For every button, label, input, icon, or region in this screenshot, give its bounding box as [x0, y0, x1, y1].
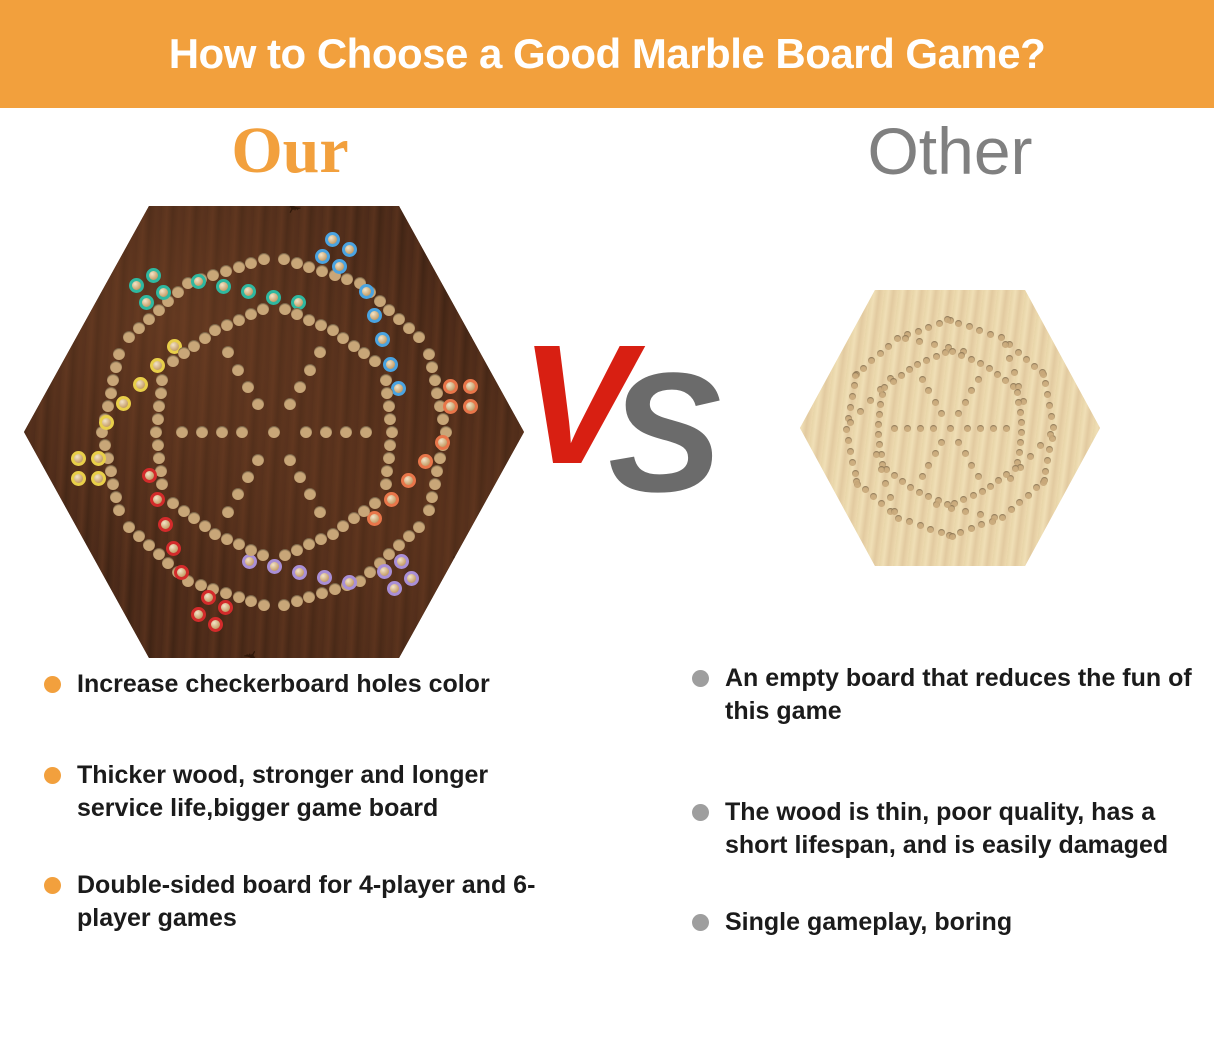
- board-hole-marble: [201, 590, 216, 605]
- board-hole: [209, 324, 221, 336]
- board-hole: [278, 599, 290, 611]
- board-hole: [380, 374, 392, 386]
- board-hole: [894, 335, 901, 342]
- board-hole: [1031, 363, 1038, 370]
- board-hole: [102, 400, 114, 412]
- board-hole: [860, 365, 867, 372]
- page-title: How to Choose a Good Marble Board Game?: [0, 0, 1214, 108]
- board-hole: [303, 314, 315, 326]
- board-hole: [987, 483, 994, 490]
- board-hole: [315, 533, 327, 545]
- board-hole: [914, 361, 921, 368]
- board-hole: [962, 508, 969, 515]
- board-hole: [1017, 439, 1024, 446]
- board-hole: [413, 331, 425, 343]
- board-hole: [1046, 402, 1053, 409]
- board-hole: [994, 371, 1001, 378]
- board-hole-marble: [129, 278, 144, 293]
- board-hole: [1015, 399, 1022, 406]
- bullet-dot-icon: [692, 914, 709, 931]
- board-hole-marble: [266, 290, 281, 305]
- board-hole: [156, 478, 168, 490]
- board-hole: [1046, 446, 1053, 453]
- board-hole: [242, 471, 254, 483]
- board-hole: [199, 332, 211, 344]
- board-hole: [233, 261, 245, 273]
- board-hole: [938, 439, 945, 446]
- board-hole: [221, 319, 233, 331]
- board-hole: [381, 387, 393, 399]
- board-hole: [384, 413, 396, 425]
- versus-graphic: V S: [520, 320, 740, 500]
- other-column-heading: Other: [820, 118, 1080, 184]
- board-hole: [878, 466, 885, 473]
- board-hole: [291, 595, 303, 607]
- board-hole: [1025, 492, 1032, 499]
- board-hole-marble: [116, 396, 131, 411]
- board-hole: [258, 599, 270, 611]
- our-feature-text: Thicker wood, stronger and longer servic…: [77, 759, 564, 825]
- other-feature-text: Single gameplay, boring: [725, 906, 1012, 939]
- board-hole: [258, 253, 270, 265]
- board-hole-marble: [216, 279, 231, 294]
- board-hole: [303, 261, 315, 273]
- board-hole: [876, 411, 883, 418]
- board-hole-marble: [174, 565, 189, 580]
- board-hole: [852, 372, 859, 379]
- board-hole-marble: [292, 565, 307, 580]
- board-hole: [403, 530, 415, 542]
- board-hole: [188, 340, 200, 352]
- board-hole: [360, 426, 372, 438]
- board-hole: [845, 437, 852, 444]
- board-hole-marble: [377, 564, 392, 579]
- board-hole-marble: [463, 379, 478, 394]
- board-hole: [1042, 380, 1049, 387]
- board-hole-marble: [191, 274, 206, 289]
- airplane-icon: ✈: [446, 550, 472, 575]
- board-hole: [887, 494, 894, 501]
- board-hole: [1044, 391, 1051, 398]
- board-hole: [172, 286, 184, 298]
- board-hole: [898, 372, 905, 379]
- our-feature-text: Increase checkerboard holes color: [77, 668, 490, 701]
- board-hole: [862, 486, 869, 493]
- board-hole: [876, 441, 883, 448]
- board-hole-marble: [133, 377, 148, 392]
- board-hole: [153, 548, 165, 560]
- board-hole-marble: [367, 308, 382, 323]
- board-hole: [133, 322, 145, 334]
- board-hole: [1016, 499, 1023, 506]
- board-hole: [426, 491, 438, 503]
- board-hole: [962, 450, 969, 457]
- board-hole: [153, 304, 165, 316]
- board-hole: [955, 439, 962, 446]
- board-hole: [314, 506, 326, 518]
- board-hole: [268, 426, 280, 438]
- board-hole: [110, 361, 122, 373]
- our-feature-list: Increase checkerboard holes color Thicke…: [44, 668, 564, 979]
- list-item: Single gameplay, boring: [692, 906, 1212, 939]
- board-hole: [278, 253, 290, 265]
- board-hole: [284, 398, 296, 410]
- other-board-hexagon: [800, 290, 1100, 566]
- board-hole: [143, 313, 155, 325]
- board-hole: [176, 426, 188, 438]
- board-hole: [1002, 377, 1009, 384]
- board-hole: [245, 595, 257, 607]
- board-hole: [110, 491, 122, 503]
- board-hole: [904, 425, 911, 432]
- board-hole-marble: [332, 259, 347, 274]
- board-hole: [386, 426, 398, 438]
- board-hole: [919, 376, 926, 383]
- board-hole: [167, 497, 179, 509]
- board-hole: [222, 346, 234, 358]
- board-hole: [919, 473, 926, 480]
- board-hole: [188, 512, 200, 524]
- board-hole: [933, 353, 940, 360]
- board-hole: [1039, 369, 1046, 376]
- board-hole-marble: [463, 399, 478, 414]
- board-hole: [152, 413, 164, 425]
- board-hole-marble: [443, 399, 458, 414]
- board-hole: [156, 374, 168, 386]
- board-hole: [977, 425, 984, 432]
- board-hole: [348, 512, 360, 524]
- board-hole: [877, 350, 884, 357]
- board-hole: [925, 462, 932, 469]
- board-hole: [944, 501, 951, 508]
- board-hole: [340, 426, 352, 438]
- board-hole: [936, 320, 943, 327]
- board-hole: [979, 488, 986, 495]
- board-hole: [155, 387, 167, 399]
- other-feature-text: An empty board that reduces the fun of t…: [725, 662, 1212, 728]
- board-hole: [222, 506, 234, 518]
- bullet-dot-icon: [692, 804, 709, 821]
- board-hole: [393, 539, 405, 551]
- board-hole-marble: [342, 575, 357, 590]
- board-hole: [875, 431, 882, 438]
- board-hole: [291, 257, 303, 269]
- board-hole: [1042, 468, 1049, 475]
- board-hole: [284, 454, 296, 466]
- board-hole: [257, 549, 269, 561]
- board-hole-marble: [315, 249, 330, 264]
- board-hole: [915, 328, 922, 335]
- board-hole-marble: [218, 600, 233, 615]
- airplane-icon: ✈: [58, 518, 75, 538]
- board-hole: [947, 425, 954, 432]
- our-board-hexagon: ✈✈✈✈✈✈: [24, 206, 524, 658]
- board-hole: [932, 450, 939, 457]
- board-hole: [1047, 431, 1054, 438]
- our-feature-text: Double-sided board for 4-player and 6-pl…: [77, 869, 564, 935]
- board-hole: [178, 347, 190, 359]
- board-hole: [923, 357, 930, 364]
- other-feature-list: An empty board that reduces the fun of t…: [692, 662, 1212, 983]
- board-hole: [849, 459, 856, 466]
- board-hole-marble: [401, 473, 416, 488]
- board-hole: [291, 308, 303, 320]
- board-hole: [257, 303, 269, 315]
- board-hole: [167, 355, 179, 367]
- board-hole: [899, 478, 906, 485]
- board-hole-marble: [242, 554, 257, 569]
- board-hole: [434, 452, 446, 464]
- board-hole: [1014, 389, 1021, 396]
- board-hole: [917, 425, 924, 432]
- board-hole: [199, 520, 211, 532]
- board-hole: [938, 529, 945, 536]
- board-hole: [881, 384, 888, 391]
- board-hole: [279, 549, 291, 561]
- board-hole: [304, 488, 316, 500]
- board-hole: [847, 448, 854, 455]
- board-hole: [977, 511, 984, 518]
- board-hole: [242, 381, 254, 393]
- board-hole: [882, 480, 889, 487]
- board-hole: [978, 521, 985, 528]
- other-feature-text: The wood is thin, poor quality, has a sh…: [725, 796, 1212, 862]
- board-hole-marble: [91, 471, 106, 486]
- board-hole: [431, 465, 443, 477]
- board-hole: [232, 488, 244, 500]
- board-hole-marble: [384, 492, 399, 507]
- board-hole-marble: [156, 285, 171, 300]
- board-hole: [143, 539, 155, 551]
- our-board-image: ✈✈✈✈✈✈: [24, 206, 524, 658]
- board-hole: [868, 357, 875, 364]
- board-hole: [975, 473, 982, 480]
- board-hole-marble: [383, 357, 398, 372]
- bullet-dot-icon: [44, 877, 61, 894]
- bullet-dot-icon: [44, 767, 61, 784]
- airplane-icon: ✈: [470, 326, 487, 346]
- board-hole-marble: [241, 284, 256, 299]
- board-hole: [931, 341, 938, 348]
- board-hole: [294, 471, 306, 483]
- other-board-image: [800, 290, 1100, 566]
- board-hole: [847, 419, 854, 426]
- board-hole: [1023, 356, 1030, 363]
- board-hole: [968, 387, 975, 394]
- board-hole-marble: [404, 571, 419, 586]
- board-hole-marble: [99, 415, 114, 430]
- board-hole: [133, 530, 145, 542]
- board-hole: [877, 401, 884, 408]
- board-hole: [423, 348, 435, 360]
- board-hole: [1018, 429, 1025, 436]
- list-item: The wood is thin, poor quality, has a sh…: [692, 796, 1212, 862]
- board-hole: [437, 413, 449, 425]
- board-hole: [895, 515, 902, 522]
- board-hole: [977, 360, 984, 367]
- board-hole: [962, 399, 969, 406]
- board-hole: [1018, 419, 1025, 426]
- board-hole-marble: [435, 435, 450, 450]
- board-hole: [245, 544, 257, 556]
- airplane-icon: ✈: [279, 193, 305, 218]
- board-hole: [925, 387, 932, 394]
- board-hole: [221, 533, 233, 545]
- board-hole: [1041, 477, 1048, 484]
- board-hole: [1033, 484, 1040, 491]
- board-hole: [291, 544, 303, 556]
- list-item: An empty board that reduces the fun of t…: [692, 662, 1212, 728]
- board-hole-marble: [158, 517, 173, 532]
- board-hole: [949, 348, 956, 355]
- board-hole: [195, 579, 207, 591]
- board-hole: [358, 505, 370, 517]
- board-hole-marble: [342, 242, 357, 257]
- board-hole: [885, 343, 892, 350]
- board-hole: [196, 426, 208, 438]
- board-hole: [245, 308, 257, 320]
- board-hole: [383, 400, 395, 412]
- board-hole: [429, 374, 441, 386]
- board-hole: [233, 591, 245, 603]
- board-hole: [207, 269, 219, 281]
- board-hole: [113, 504, 125, 516]
- board-hole: [369, 497, 381, 509]
- board-hole: [123, 331, 135, 343]
- board-hole: [413, 521, 425, 533]
- board-hole: [320, 426, 332, 438]
- board-hole-marble: [391, 381, 406, 396]
- board-hole-marble: [166, 541, 181, 556]
- board-hole: [381, 465, 393, 477]
- board-hole-marble: [71, 451, 86, 466]
- board-hole: [279, 303, 291, 315]
- board-hole: [975, 376, 982, 383]
- board-hole-marble: [387, 581, 402, 596]
- board-hole: [999, 514, 1006, 521]
- board-hole: [849, 393, 856, 400]
- board-hole: [178, 505, 190, 517]
- board-hole: [1017, 409, 1024, 416]
- board-hole: [245, 257, 257, 269]
- board-hole: [932, 399, 939, 406]
- board-hole: [303, 538, 315, 550]
- airplane-icon: ✈: [73, 289, 99, 314]
- board-hole-marble: [150, 492, 165, 507]
- board-hole: [906, 518, 913, 525]
- board-hole-marble: [375, 332, 390, 347]
- board-hole-marble: [418, 454, 433, 469]
- board-hole: [209, 528, 221, 540]
- board-hole: [99, 439, 111, 451]
- board-hole: [955, 320, 962, 327]
- board-hole: [316, 265, 328, 277]
- board-hole: [957, 529, 964, 536]
- board-hole: [337, 332, 349, 344]
- board-hole: [233, 538, 245, 550]
- board-hole: [315, 319, 327, 331]
- board-hole: [976, 327, 983, 334]
- board-hole: [337, 520, 349, 532]
- board-hole: [916, 338, 923, 345]
- board-hole: [369, 355, 381, 367]
- board-hole: [991, 514, 998, 521]
- board-hole-marble: [91, 451, 106, 466]
- board-hole: [429, 478, 441, 490]
- board-hole: [925, 493, 932, 500]
- board-hole: [958, 352, 965, 359]
- board-hole: [986, 365, 993, 372]
- board-hole-marble: [191, 607, 206, 622]
- board-hole: [990, 425, 997, 432]
- board-hole: [294, 381, 306, 393]
- board-hole-marble: [394, 554, 409, 569]
- board-hole: [847, 404, 854, 411]
- board-hole: [925, 324, 932, 331]
- board-hole: [380, 478, 392, 490]
- board-hole: [1006, 355, 1013, 362]
- board-hole: [927, 526, 934, 533]
- board-hole: [843, 426, 850, 433]
- board-hole: [907, 484, 914, 491]
- board-hole: [431, 387, 443, 399]
- airplane-icon: ✈: [240, 646, 266, 671]
- board-hole: [891, 425, 898, 432]
- board-hole: [423, 504, 435, 516]
- board-hole: [123, 521, 135, 533]
- board-hole: [316, 587, 328, 599]
- board-hole: [964, 425, 971, 432]
- board-hole: [949, 533, 956, 540]
- board-hole: [233, 314, 245, 326]
- board-hole: [906, 366, 913, 373]
- board-hole-marble: [208, 617, 223, 632]
- board-hole-marble: [71, 471, 86, 486]
- board-hole-marble: [443, 379, 458, 394]
- board-hole: [403, 322, 415, 334]
- board-hole: [113, 348, 125, 360]
- list-item: Double-sided board for 4-player and 6-pl…: [44, 869, 564, 935]
- board-hole: [1037, 442, 1044, 449]
- our-column-heading: Our: [180, 118, 400, 184]
- board-hole: [960, 496, 967, 503]
- board-hole: [216, 426, 228, 438]
- board-hole: [878, 500, 885, 507]
- board-hole: [153, 452, 165, 464]
- board-hole-marble: [146, 268, 161, 283]
- board-hole: [890, 378, 897, 385]
- board-hole: [968, 525, 975, 532]
- board-hole: [938, 410, 945, 417]
- board-hole: [1016, 449, 1023, 456]
- board-hole: [252, 454, 264, 466]
- board-hole: [995, 477, 1002, 484]
- board-hole: [105, 387, 117, 399]
- versus-s-letter: S: [608, 348, 721, 518]
- board-hole: [1003, 425, 1010, 432]
- board-hole: [341, 273, 353, 285]
- board-hole: [150, 426, 162, 438]
- board-hole: [1015, 349, 1022, 356]
- board-hole: [304, 364, 316, 376]
- board-hole: [1050, 424, 1057, 431]
- board-hole: [987, 331, 994, 338]
- board-hole-marble: [142, 468, 157, 483]
- board-hole: [966, 323, 973, 330]
- board-hole: [1012, 465, 1019, 472]
- board-hole: [220, 587, 232, 599]
- board-hole: [220, 265, 232, 277]
